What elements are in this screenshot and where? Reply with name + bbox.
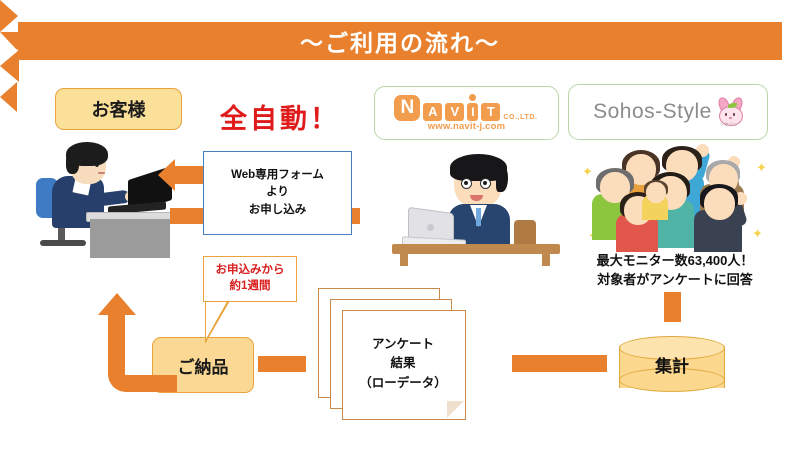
delivery-label: ご納品	[178, 353, 229, 378]
web-form-line1: Web専用フォーム	[231, 167, 324, 184]
flow-diagram-canvas: 〜ご利用の流れ〜 お客様 全自動！ N A V I T CO.,LTD. www…	[0, 0, 800, 450]
operator-desk-leg-left	[400, 254, 408, 266]
sparkle-icon-4: ✦	[752, 226, 763, 242]
document-line2: 結果	[390, 354, 415, 373]
sohos-wordmark: Sohos-Style	[593, 100, 712, 124]
navit-url: www.navit-j.com	[428, 122, 506, 132]
lead-time-line2: 約1週間	[230, 279, 271, 295]
sohos-logo: Sohos-Style ソホリン	[593, 97, 743, 127]
sparkle-icon-1: ✦	[582, 164, 593, 180]
customer-illustration	[28, 140, 178, 258]
fully-automatic-text: 全自動！	[205, 96, 355, 136]
arrow-documents-to-delivery-head	[0, 82, 17, 112]
navit-letters: N A V I T CO.,LTD.	[394, 95, 538, 121]
sparkle-icon-2: ✦	[756, 160, 767, 176]
customer-label-text: お客様	[92, 96, 146, 122]
sohos-logo-card: Sohos-Style ソホリン	[568, 84, 768, 140]
operator-desk-leg-right	[542, 254, 550, 266]
navit-letter-a: A	[423, 103, 442, 121]
navit-logo: N A V I T CO.,LTD. www.navit-j.com	[394, 95, 538, 132]
customer-desk-body	[90, 219, 170, 258]
arrow-people-to-tabulation-body	[664, 292, 681, 322]
tabulation-label: 集計	[619, 352, 725, 377]
web-form-line2: より	[266, 184, 289, 201]
customer-mouth	[98, 172, 105, 174]
operator-tie	[476, 208, 481, 226]
navit-letter-t: T	[481, 103, 500, 121]
node-tabulation: 集計	[619, 336, 725, 398]
operator-illustration	[392, 148, 567, 266]
page-title: 〜ご利用の流れ〜	[300, 24, 500, 58]
people-group-illustration: ✦ ✦ ✦ ✦	[580, 142, 780, 254]
arrow-delivery-to-customer-head	[98, 293, 136, 315]
navit-letter-v: V	[445, 103, 464, 121]
header-banner: 〜ご利用の流れ〜	[18, 22, 782, 60]
operator-pupil-left	[464, 181, 468, 185]
navit-logo-card: N A V I T CO.,LTD. www.navit-j.com	[374, 86, 559, 140]
bunny-nose-icon	[729, 117, 732, 119]
lead-time-bubble-tail-fill	[206, 298, 229, 339]
bunny-eye-left-icon	[725, 113, 728, 116]
document-line1: アンケート	[372, 335, 434, 354]
monitor-count-caption: 最大モニター数63,400人！ 対象者がアンケートに回答	[565, 252, 785, 290]
monitor-caption-line2: 対象者がアンケートに回答	[565, 271, 785, 290]
person-head-h	[646, 182, 666, 203]
web-form-line3: お申し込み	[249, 202, 307, 219]
arrow-tabulation-to-documents-body	[512, 355, 607, 372]
navit-letter-i-wrap: I	[467, 103, 478, 121]
node-survey-documents: アンケート 結果 （ローデータ）	[318, 288, 478, 416]
navit-i-dot-icon	[469, 94, 476, 101]
navit-letter-n: N	[394, 95, 420, 121]
monitor-caption-line1: 最大モニター数63,400人！	[565, 252, 785, 271]
arrow-delivery-to-customer-elbow	[108, 313, 177, 392]
bunny-mascot-icon: ソホリン	[717, 97, 743, 127]
operator-sideburn	[496, 164, 508, 192]
lead-time-bubble: お申込みから 約1週間	[203, 256, 297, 302]
document-text: アンケート 結果 （ローデータ）	[342, 310, 464, 418]
person-head-g	[704, 188, 735, 220]
navit-letter-i: I	[467, 103, 478, 121]
customer-sideburn	[66, 152, 79, 174]
bunny-eye-right-icon	[733, 113, 736, 116]
operator-laptop-logo	[427, 224, 434, 231]
arrow-tabulation-to-documents-head	[0, 50, 19, 82]
navit-suffix: CO.,LTD.	[503, 114, 537, 121]
web-form-box: Web専用フォーム より お申し込み	[203, 151, 352, 235]
lead-time-line1: お申込みから	[216, 263, 285, 279]
node-customer-label: お客様	[55, 88, 182, 130]
arrow-documents-to-delivery-body	[258, 356, 306, 372]
bunny-mascot-caption: ソホリン	[720, 122, 738, 128]
customer-eye	[95, 162, 99, 167]
office-chair-base	[40, 240, 86, 246]
operator-pupil-right	[483, 181, 487, 185]
operator-desk-top	[392, 244, 560, 254]
arrow-customer-to-navit-head	[0, 0, 18, 32]
document-line3: （ローデータ）	[359, 374, 447, 393]
